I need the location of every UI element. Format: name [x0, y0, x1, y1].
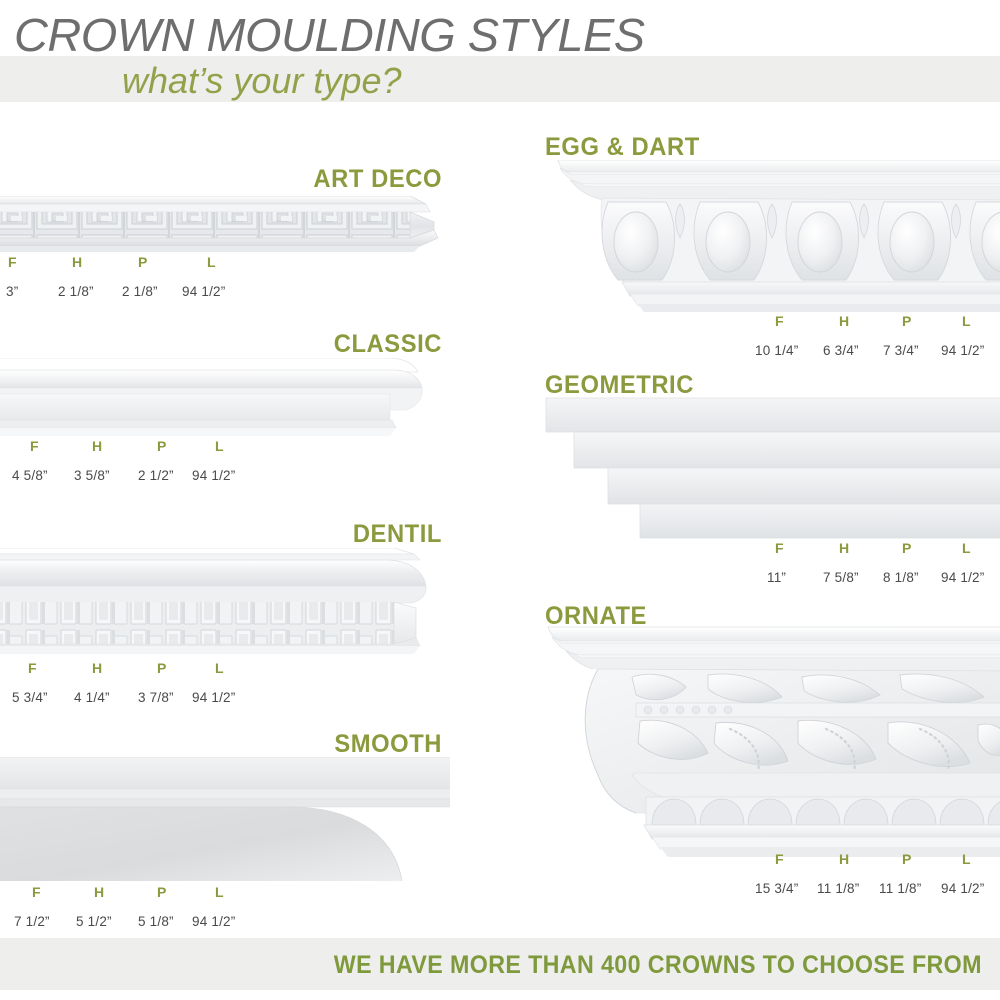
spec-value-h: 6 3/4”	[823, 343, 859, 358]
spec-header-l: L	[962, 851, 971, 867]
style-title-classic: CLASSIC	[22, 330, 442, 359]
spec-header-h: H	[94, 884, 104, 900]
spec-header-l: L	[215, 660, 224, 676]
spec-value-l: 94 1/2”	[941, 881, 984, 896]
moulding-art-art-deco	[0, 196, 440, 252]
spec-header-l: L	[215, 884, 224, 900]
spec-header-h: H	[839, 313, 849, 329]
footer-tagline: WE HAVE MORE THAN 400 CROWNS TO CHOOSE F…	[334, 951, 982, 980]
spec-table-ornate: F H P L 15 3/4” 11 1/8” 11 1/8” 94 1/2”	[755, 851, 1000, 901]
spec-header-f: F	[775, 540, 784, 556]
spec-value-f: 11”	[767, 570, 786, 585]
spec-header-f: F	[775, 851, 784, 867]
spec-value-f: 15 3/4”	[755, 881, 798, 896]
moulding-art-ornate	[540, 625, 1000, 865]
moulding-art-classic	[0, 358, 440, 436]
spec-value-p: 2 1/2”	[138, 468, 174, 483]
spec-value-p: 7 3/4”	[883, 343, 919, 358]
spec-table-dentil: F H P L 5 3/4” 4 1/4” 3 7/8” 94 1/2”	[0, 660, 260, 710]
spec-header-l: L	[962, 313, 971, 329]
spec-value-h: 5 1/2”	[76, 914, 112, 929]
spec-header-h: H	[92, 660, 102, 676]
spec-header-f: F	[30, 438, 39, 454]
spec-value-h: 3 5/8”	[74, 468, 110, 483]
spec-header-h: H	[92, 438, 102, 454]
moulding-art-geometric	[540, 396, 1000, 542]
spec-value-f: 7 1/2”	[14, 914, 50, 929]
spec-header-p: P	[902, 540, 912, 556]
spec-header-l: L	[207, 254, 216, 270]
page-subtitle: what’s your type?	[122, 60, 402, 102]
spec-table-geometric: F H P L 11” 7 5/8” 8 1/8” 94 1/2”	[755, 540, 1000, 590]
spec-header-p: P	[902, 851, 912, 867]
spec-value-p: 8 1/8”	[883, 570, 919, 585]
spec-value-f: 10 1/4”	[755, 343, 798, 358]
spec-header-p: P	[138, 254, 148, 270]
spec-value-f: 3”	[6, 284, 18, 299]
style-title-art-deco: ART DECO	[22, 165, 442, 194]
spec-header-f: F	[28, 660, 37, 676]
spec-value-p: 3 7/8”	[138, 690, 174, 705]
moulding-art-smooth	[0, 757, 450, 882]
spec-header-h: H	[839, 540, 849, 556]
moulding-art-egg-and-dart	[540, 160, 1000, 320]
spec-header-h: H	[839, 851, 849, 867]
spec-value-p: 5 1/8”	[138, 914, 174, 929]
spec-value-l: 94 1/2”	[941, 570, 984, 585]
spec-table-art-deco: F H P L 3” 2 1/8” 2 1/8” 94 1/2”	[0, 254, 260, 304]
spec-header-p: P	[157, 884, 167, 900]
spec-header-f: F	[32, 884, 41, 900]
style-title-dentil: DENTIL	[22, 520, 442, 549]
spec-table-classic: F H P L 4 5/8” 3 5/8” 2 1/2” 94 1/2”	[0, 438, 260, 488]
spec-value-p: 11 1/8”	[879, 881, 921, 896]
spec-header-f: F	[775, 313, 784, 329]
spec-table-egg-and-dart: F H P L 10 1/4” 6 3/4” 7 3/4” 94 1/2”	[755, 313, 1000, 363]
spec-header-l: L	[962, 540, 971, 556]
spec-value-l: 94 1/2”	[182, 284, 225, 299]
spec-header-h: H	[72, 254, 82, 270]
spec-header-p: P	[902, 313, 912, 329]
spec-value-f: 5 3/4”	[12, 690, 48, 705]
spec-value-l: 94 1/2”	[192, 468, 235, 483]
spec-value-h: 4 1/4”	[74, 690, 110, 705]
spec-value-p: 2 1/8”	[122, 284, 158, 299]
spec-value-f: 4 5/8”	[12, 468, 48, 483]
spec-value-l: 94 1/2”	[941, 343, 984, 358]
spec-value-h: 2 1/8”	[58, 284, 94, 299]
style-title-smooth: SMOOTH	[22, 730, 442, 759]
spec-header-p: P	[157, 438, 167, 454]
spec-table-smooth: F H P L 7 1/2” 5 1/2” 5 1/8” 94 1/2”	[0, 884, 260, 934]
spec-header-p: P	[157, 660, 167, 676]
style-title-egg-and-dart: EGG & DART	[545, 133, 700, 162]
spec-value-h: 11 1/8”	[817, 881, 859, 896]
spec-value-l: 94 1/2”	[192, 690, 235, 705]
page-title: CROWN MOULDING STYLES	[14, 8, 645, 62]
spec-value-l: 94 1/2”	[192, 914, 235, 929]
spec-header-l: L	[215, 438, 224, 454]
spec-value-h: 7 5/8”	[823, 570, 859, 585]
spec-header-f: F	[8, 254, 17, 270]
infographic-canvas: CROWN MOULDING STYLES what’s your type? …	[0, 0, 1000, 1000]
moulding-art-dentil	[0, 548, 445, 658]
